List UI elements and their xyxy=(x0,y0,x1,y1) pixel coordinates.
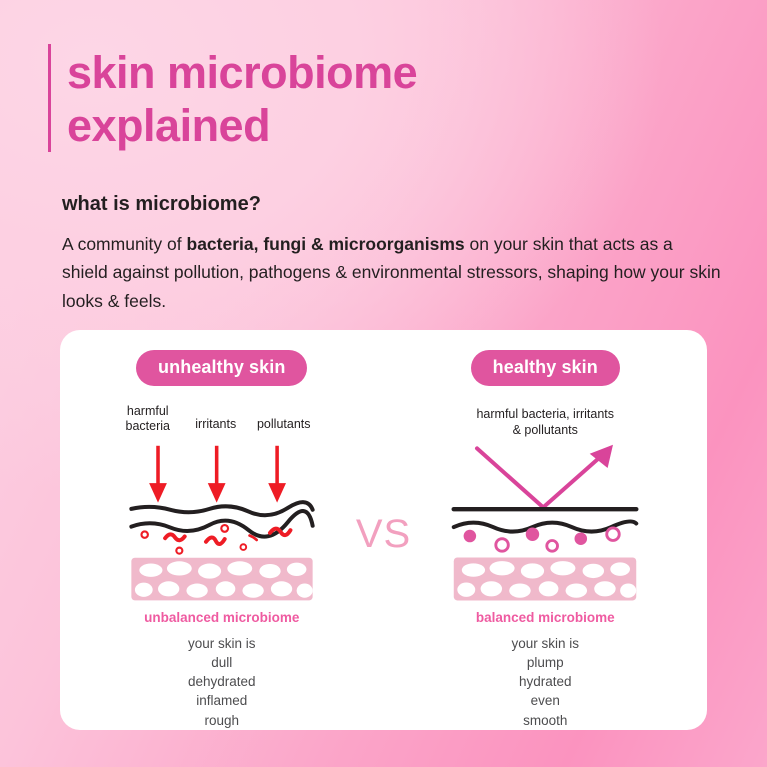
arrow-heads-icon xyxy=(149,483,286,503)
intro-body-part1: A community of xyxy=(62,234,187,254)
healthy-skin-diagram xyxy=(439,443,651,604)
panel-unhealthy-skin: unhealthy skin harmful bacteria irritant… xyxy=(60,330,384,730)
infographic-page: skin microbiome explained what is microb… xyxy=(0,0,767,767)
healthy-threat-label: harmful bacteria, irritants & pollutants xyxy=(476,406,614,439)
intro-section: what is microbiome? A community of bacte… xyxy=(62,193,722,315)
intro-body: A community of bacteria, fungi & microor… xyxy=(62,230,722,315)
dermis-layer-icon xyxy=(131,557,312,600)
page-title: skin microbiome explained xyxy=(67,44,417,152)
unhealthy-skin-traits: your skin is dull dehydrated inflamed ro… xyxy=(188,634,256,730)
unhealthy-skin-diagram xyxy=(116,444,328,604)
skin-surface-line-inner xyxy=(131,511,312,537)
title-accent-bar xyxy=(48,44,51,152)
threat-label-irritants: irritants xyxy=(185,417,247,432)
harmful-germs-icon xyxy=(141,525,290,554)
skin-surface-line-outer xyxy=(131,502,312,515)
unhealthy-skin-pill: unhealthy skin xyxy=(136,350,307,386)
healthy-skin-pill: healthy skin xyxy=(471,350,620,386)
deflected-arrow-icon xyxy=(477,448,606,507)
threat-label-pollutants: pollutants xyxy=(248,417,320,432)
healthy-skin-traits: your skin is plump hydrated even smooth xyxy=(511,634,579,730)
intro-heading: what is microbiome? xyxy=(62,193,722,216)
dermis-layer-icon xyxy=(454,557,636,600)
panel-healthy-skin: healthy skin harmful bacteria, irritants… xyxy=(384,330,708,730)
page-header: skin microbiome explained xyxy=(48,44,417,152)
balanced-microbiome-label: balanced microbiome xyxy=(476,610,615,625)
unhealthy-threat-labels: harmful bacteria irritants pollutants xyxy=(117,404,327,440)
intro-body-bold: bacteria, fungi & microorganisms xyxy=(187,234,465,254)
unbalanced-microbiome-label: unbalanced microbiome xyxy=(144,610,299,625)
vs-divider-label: VS xyxy=(356,512,411,557)
threat-label-harmful-bacteria: harmful bacteria xyxy=(117,404,179,435)
comparison-card: unhealthy skin harmful bacteria irritant… xyxy=(60,330,707,730)
